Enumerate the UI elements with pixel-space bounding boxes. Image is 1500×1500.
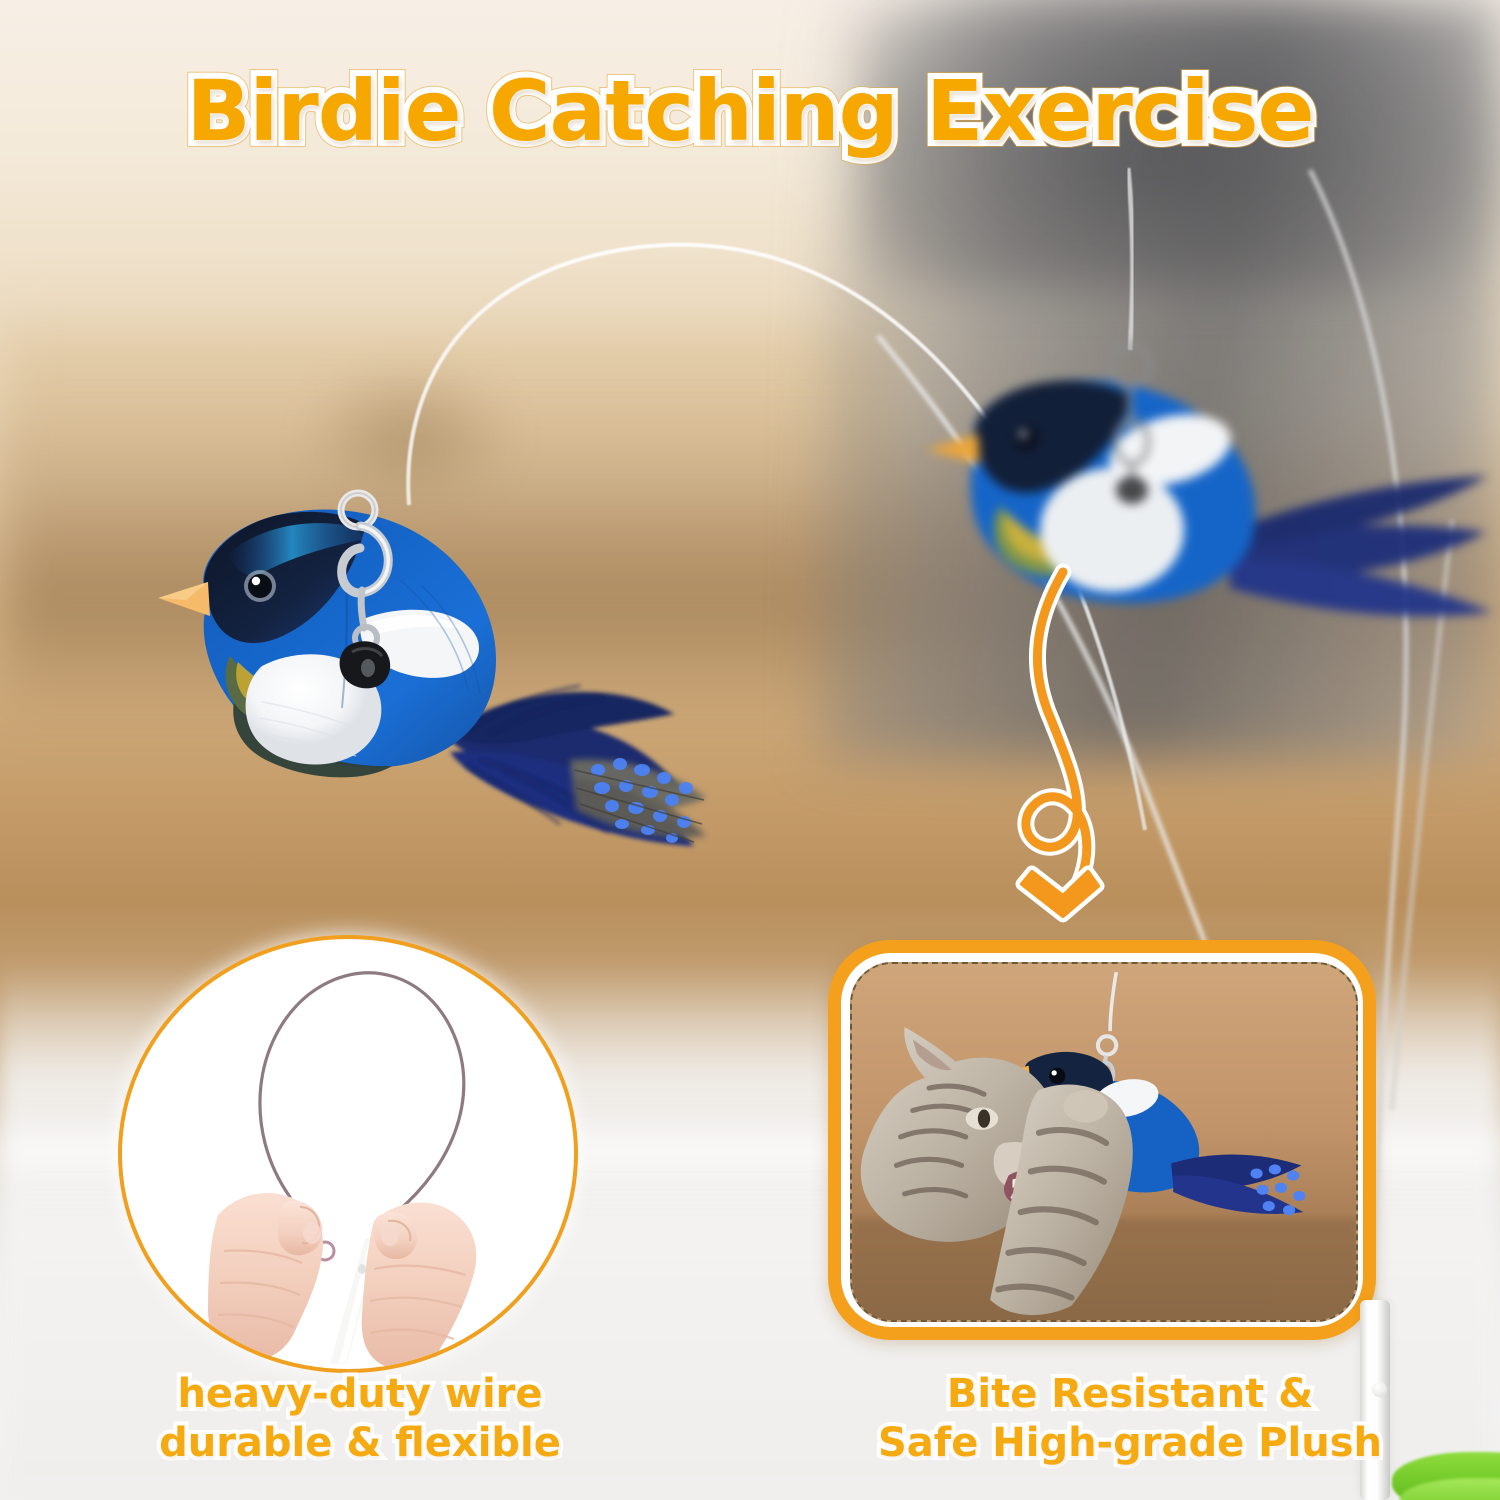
product-marketing-image: Birdie Catching Exercise Birdie Catching… [0, 0, 1500, 1500]
secondary-bird-toy [880, 330, 1500, 710]
left-hand [208, 1193, 323, 1360]
caption-wire-feature: heavy-duty wire durable & flexible [60, 1370, 660, 1468]
wire-loop-demo-inset [118, 935, 578, 1373]
caption-plush-feature: Bite Resistant & Safe High-grade Plush [800, 1370, 1460, 1468]
photo-frame [850, 962, 1358, 1322]
cat-playing-photo-inset [828, 940, 1376, 1340]
page-title: Birdie Catching Exercise [0, 62, 1500, 160]
right-hand [362, 1203, 477, 1369]
main-bird-toy [150, 470, 710, 890]
photo-white-ring [841, 953, 1363, 1327]
